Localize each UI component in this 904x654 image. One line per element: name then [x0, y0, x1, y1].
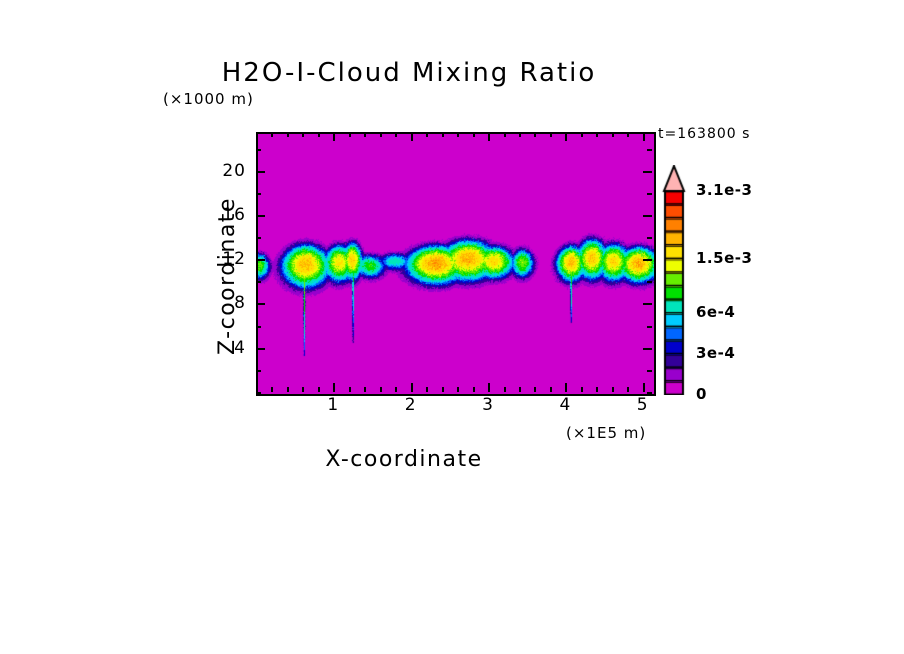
y-axis-minor-tick: [256, 326, 261, 328]
x-axis-major-tick: [643, 383, 645, 392]
x-axis-minor-tick: [596, 387, 598, 392]
y-axis-minor-tick-right: [647, 149, 652, 151]
y-axis-major-tick: [256, 348, 265, 350]
x-axis-minor-tick: [519, 387, 521, 392]
x-axis-major-tick: [333, 383, 335, 392]
x-axis-minor-tick-top: [627, 132, 629, 137]
y-axis-tick-label: 4: [204, 338, 246, 358]
x-axis-major-tick-top: [411, 132, 413, 141]
x-axis-minor-tick-top: [349, 132, 351, 137]
y-axis-minor-tick: [256, 149, 261, 151]
y-axis-minor-tick: [256, 392, 261, 394]
colorbar: 3.1e-31.5e-36e-43e-40: [660, 165, 694, 395]
colorbar-tick-label: 6e-4: [696, 303, 735, 321]
x-axis-minor-tick: [581, 387, 583, 392]
colorbar-tick-label: 0: [696, 385, 707, 403]
colorbar-tick-label: 1.5e-3: [696, 249, 752, 267]
x-axis-minor-tick-top: [596, 132, 598, 137]
x-axis-minor-tick-top: [442, 132, 444, 137]
x-axis-tick-label: 4: [545, 395, 585, 415]
x-axis-minor-tick: [287, 387, 289, 392]
x-axis-minor-tick: [457, 387, 459, 392]
y-axis-major-tick-right: [643, 259, 652, 261]
x-axis-minor-tick-top: [519, 132, 521, 137]
y-axis-units-label: (×1000 m): [163, 90, 254, 108]
x-axis-minor-tick-top: [380, 132, 382, 137]
x-axis-minor-tick: [349, 387, 351, 392]
y-axis-minor-tick-right: [647, 392, 652, 394]
x-axis-minor-tick-top: [318, 132, 320, 137]
x-axis-minor-tick: [534, 387, 536, 392]
y-axis-minor-tick-right: [647, 237, 652, 239]
y-axis-minor-tick: [256, 281, 261, 283]
colorbar-tick-label: 3.1e-3: [696, 181, 752, 199]
x-axis-minor-tick: [442, 387, 444, 392]
x-axis-tick-label: 2: [391, 395, 431, 415]
colorbar-tick-label: 3e-4: [696, 344, 735, 362]
x-axis-major-tick-top: [488, 132, 490, 141]
x-axis-minor-tick: [302, 387, 304, 392]
x-axis-major-tick: [488, 383, 490, 392]
x-axis-minor-tick: [504, 387, 506, 392]
x-axis-minor-tick: [271, 387, 273, 392]
x-axis-minor-tick: [627, 387, 629, 392]
y-axis-tick-label: 20: [204, 161, 246, 181]
plot-area: [256, 132, 656, 396]
y-axis-major-tick-right: [643, 348, 652, 350]
y-axis-major-tick-right: [643, 171, 652, 173]
y-axis-minor-tick-right: [647, 370, 652, 372]
x-axis-minor-tick: [473, 387, 475, 392]
x-axis-minor-tick: [426, 387, 428, 392]
y-axis-major-tick-right: [643, 303, 652, 305]
x-axis-minor-tick-top: [395, 132, 397, 137]
x-axis-minor-tick-top: [473, 132, 475, 137]
y-axis-major-tick: [256, 171, 265, 173]
y-axis-tick-label: 16: [204, 205, 246, 225]
x-axis-major-tick-top: [643, 132, 645, 141]
x-axis-minor-tick-top: [302, 132, 304, 137]
contour-field-canvas: [258, 134, 654, 394]
y-axis-minor-tick: [256, 237, 261, 239]
x-axis-minor-tick: [364, 387, 366, 392]
x-axis-minor-tick-top: [364, 132, 366, 137]
x-axis-minor-tick-top: [287, 132, 289, 137]
x-axis-minor-tick-top: [271, 132, 273, 137]
x-axis-tick-label: 5: [623, 395, 663, 415]
x-axis-units-label: (×1E5 m): [566, 424, 646, 442]
y-axis-tick-label: 8: [204, 293, 246, 313]
y-axis-minor-tick: [256, 193, 261, 195]
x-axis-minor-tick: [550, 387, 552, 392]
y-axis-minor-tick-right: [647, 193, 652, 195]
x-axis-tick-label: 1: [313, 395, 353, 415]
x-axis-major-tick: [411, 383, 413, 392]
y-axis-minor-tick: [256, 370, 261, 372]
x-axis-minor-tick-top: [534, 132, 536, 137]
page-title: H2O-I-Cloud Mixing Ratio: [0, 58, 861, 88]
x-axis-minor-tick-top: [612, 132, 614, 137]
x-axis-tick-label: 3: [468, 395, 508, 415]
x-axis-minor-tick-top: [426, 132, 428, 137]
x-axis-minor-tick: [395, 387, 397, 392]
x-axis-minor-tick: [318, 387, 320, 392]
y-axis-major-tick-right: [643, 215, 652, 217]
x-axis-minor-tick-top: [457, 132, 459, 137]
y-axis-major-tick: [256, 215, 265, 217]
x-axis-minor-tick: [380, 387, 382, 392]
time-stamp-label: t=163800 s: [658, 126, 750, 142]
y-axis-major-tick: [256, 259, 265, 261]
x-axis-major-tick: [565, 383, 567, 392]
x-axis-minor-tick-top: [256, 132, 258, 137]
x-axis-minor-tick-top: [581, 132, 583, 137]
x-axis-major-tick-top: [565, 132, 567, 141]
x-axis-minor-tick-top: [550, 132, 552, 137]
y-axis-major-tick: [256, 303, 265, 305]
x-axis-minor-tick-top: [504, 132, 506, 137]
x-axis-minor-tick: [612, 387, 614, 392]
colorbar-canvas: [660, 165, 694, 395]
y-axis-minor-tick-right: [647, 281, 652, 283]
figure-root: H2O-I-Cloud Mixing Ratio (×1000 m) (×1E5…: [0, 0, 904, 654]
y-axis-tick-label: 12: [204, 249, 246, 269]
x-axis-major-tick-top: [333, 132, 335, 141]
y-axis-minor-tick-right: [647, 326, 652, 328]
x-axis-title: X-coordinate: [0, 447, 856, 472]
